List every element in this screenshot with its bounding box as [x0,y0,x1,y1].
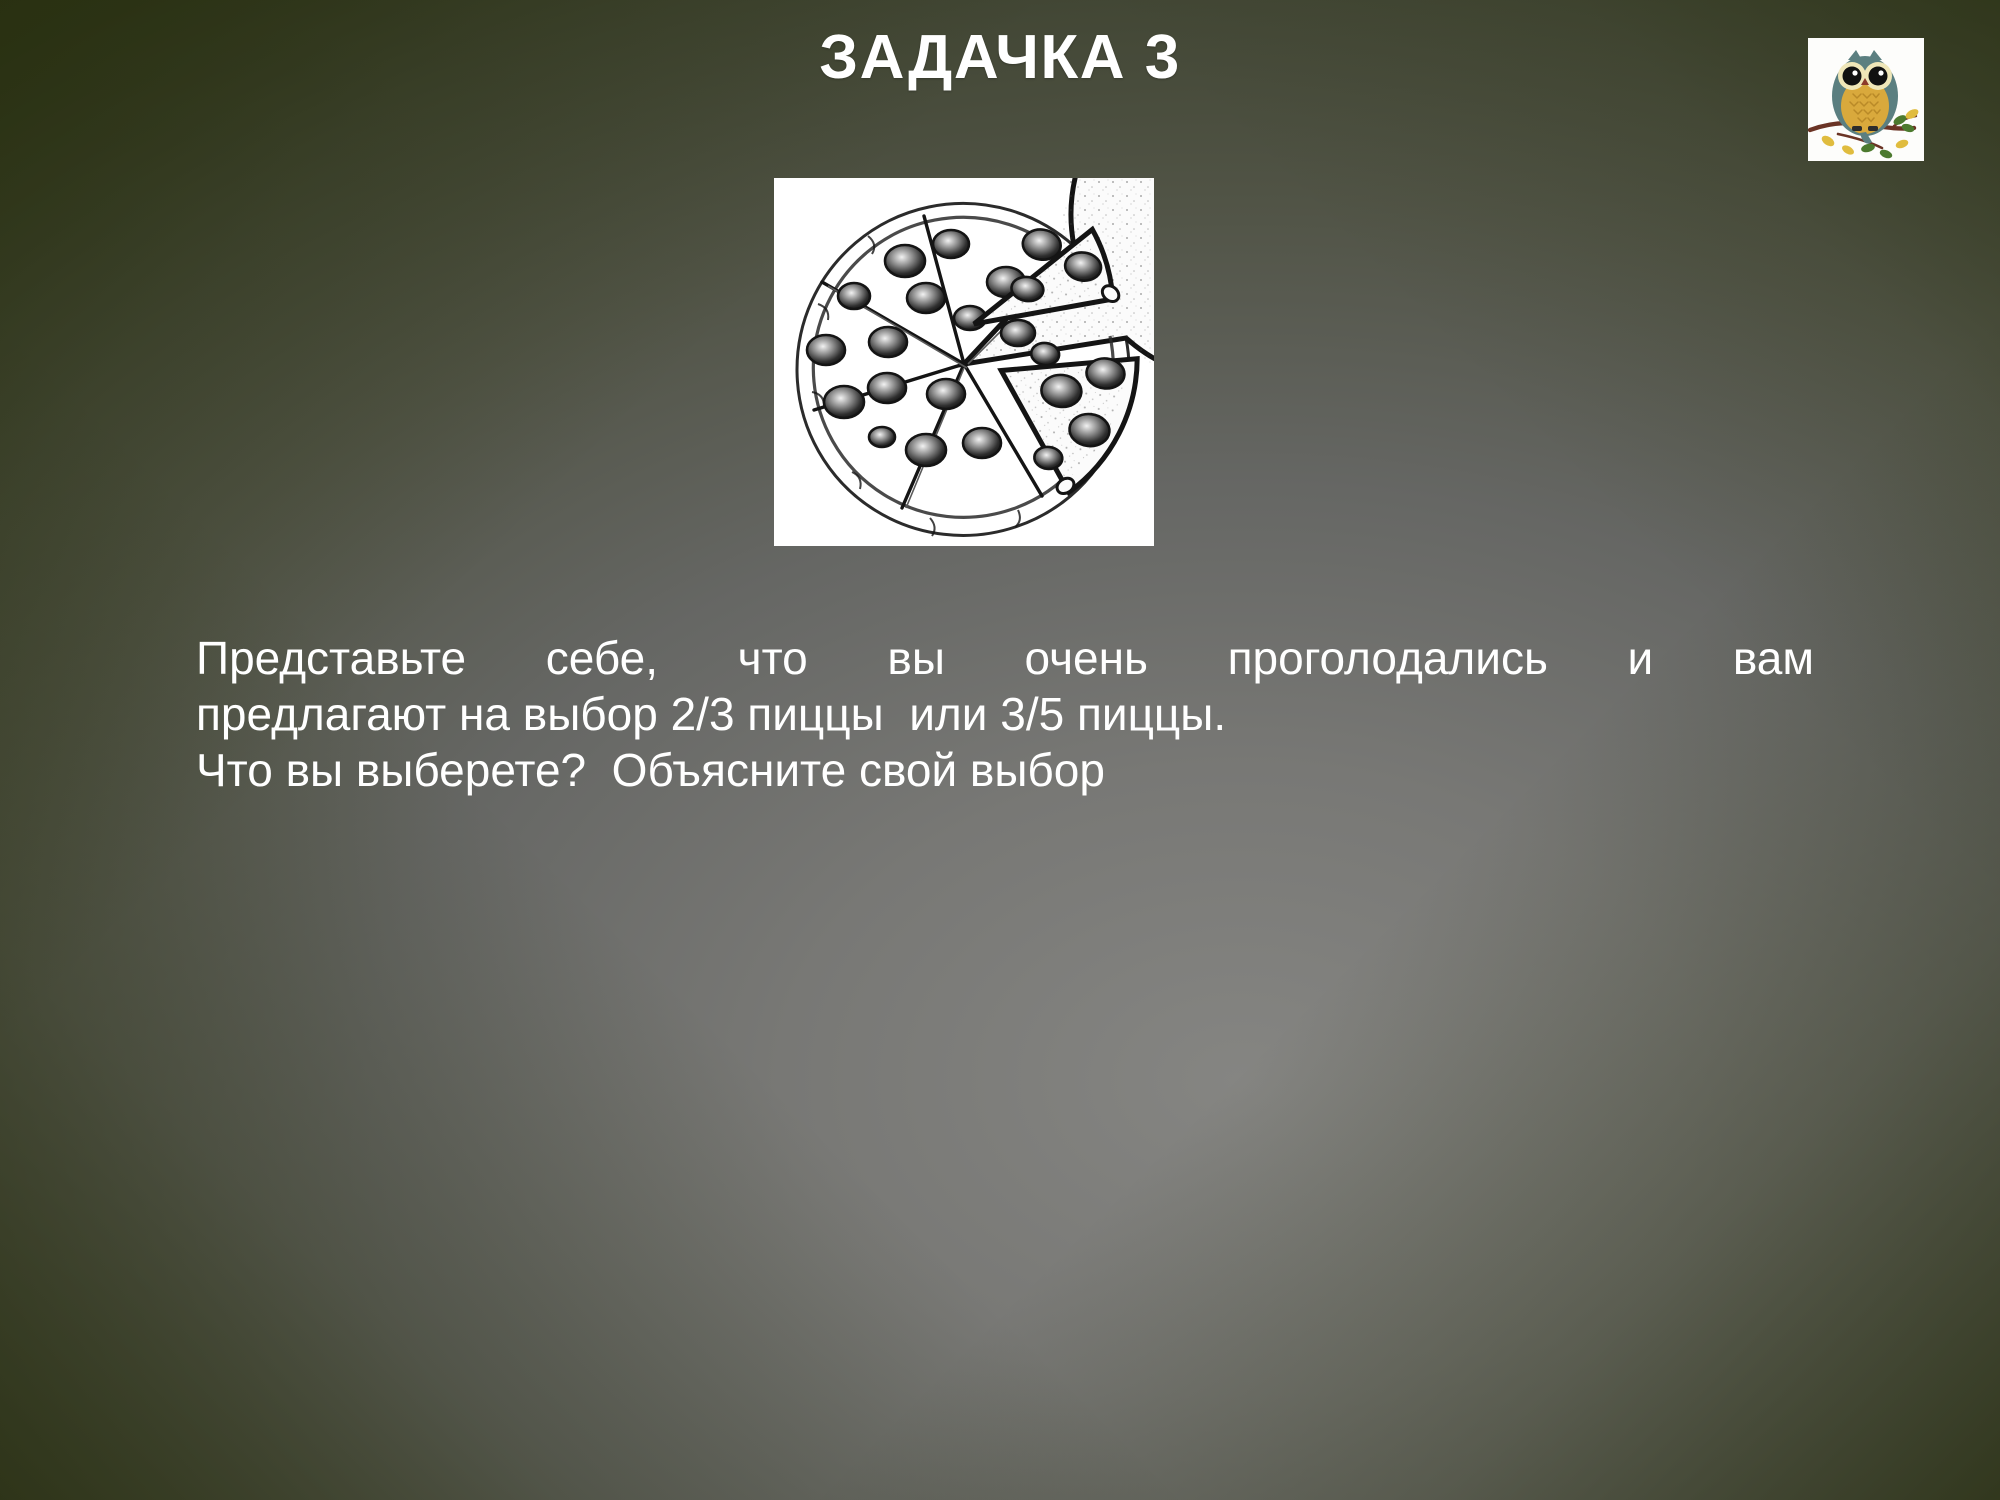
page-title: ЗАДАЧКА 3 [0,24,2000,92]
slide-canvas: ЗАДАЧКА 3 [0,0,2000,1500]
question-text: Представьте себе, что вы очень проголода… [196,630,1814,798]
question-line-2: предлагают на выбор 2/3 пиццы или 3/5 пи… [196,686,1814,742]
pizza-image [774,178,1154,546]
question-line-3: Что вы выберете? Объясните свой выбор [196,742,1814,798]
owl-logo [1808,38,1924,161]
question-line-1: Представьте себе, что вы очень проголода… [196,630,1814,686]
pizza-illustration-icon [774,178,1154,546]
owl-on-branch-icon [1808,38,1924,161]
